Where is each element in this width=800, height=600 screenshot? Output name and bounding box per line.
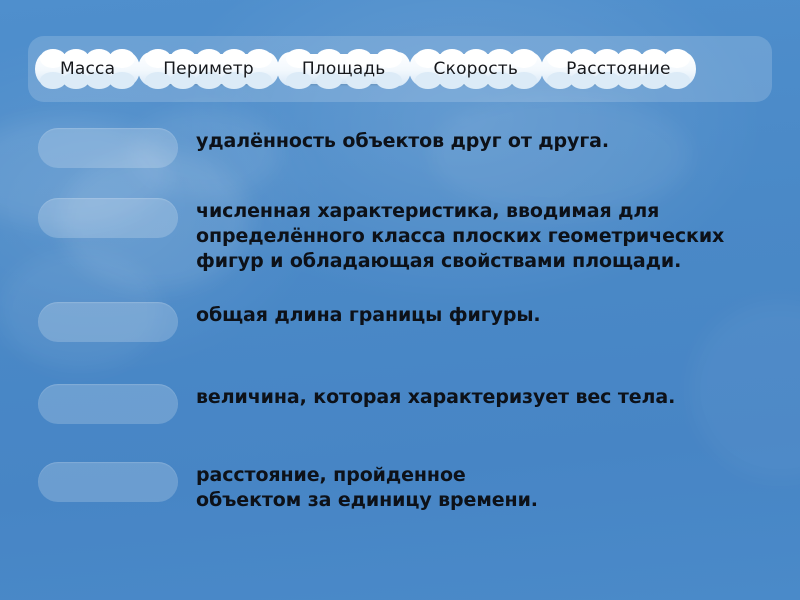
answer-dropzone[interactable] [38,302,178,342]
definition-list: удалённость объектов друг от друга.числе… [0,128,800,513]
definition-line: численная характеристика, вводимая для [196,199,800,224]
answer-dropzone[interactable] [38,128,178,168]
definition-text: расстояние, пройденноеобъектом за единиц… [196,462,800,513]
definition-text: величина, которая характеризует вес тела… [196,384,800,410]
definition-row: удалённость объектов друг от друга. [0,128,800,168]
definition-row: величина, которая характеризует вес тела… [0,384,800,424]
word-tile[interactable]: Периметр [145,48,272,90]
answer-dropzone[interactable] [38,462,178,502]
definition-line: расстояние, пройденное [196,463,800,488]
definition-row: расстояние, пройденноеобъектом за единиц… [0,462,800,513]
answer-dropzone[interactable] [38,198,178,238]
word-tile[interactable]: Площадь [284,48,404,90]
word-tile-label: Площадь [302,59,386,79]
word-tile-label: Периметр [163,59,254,79]
word-tile-label: Масса [60,59,115,79]
definition-row: общая длина границы фигуры. [0,302,800,342]
word-tile[interactable]: Расстояние [548,48,689,90]
definition-line: объектом за единицу времени. [196,488,800,513]
word-tile-label: Расстояние [566,59,671,79]
word-tile[interactable]: Масса [42,48,133,90]
answer-dropzone[interactable] [38,384,178,424]
definition-line: фигур и обладающая свойствами площади. [196,249,800,274]
definition-line: величина, которая характеризует вес тела… [196,385,800,410]
definition-text: общая длина границы фигуры. [196,302,800,328]
definition-row: численная характеристика, вводимая дляоп… [0,198,800,274]
definition-line: удалённость объектов друг от друга. [196,129,800,154]
definition-text: удалённость объектов друг от друга. [196,128,800,154]
definition-text: численная характеристика, вводимая дляоп… [196,198,800,274]
word-tile[interactable]: Скорость [416,48,537,90]
word-tile-label: Скорость [434,59,519,79]
definition-line: определённого класса плоских геометричес… [196,224,800,249]
definition-line: общая длина границы фигуры. [196,303,800,328]
word-bank-strip: МассаПериметрПлощадьСкоростьРасстояние [28,36,772,102]
